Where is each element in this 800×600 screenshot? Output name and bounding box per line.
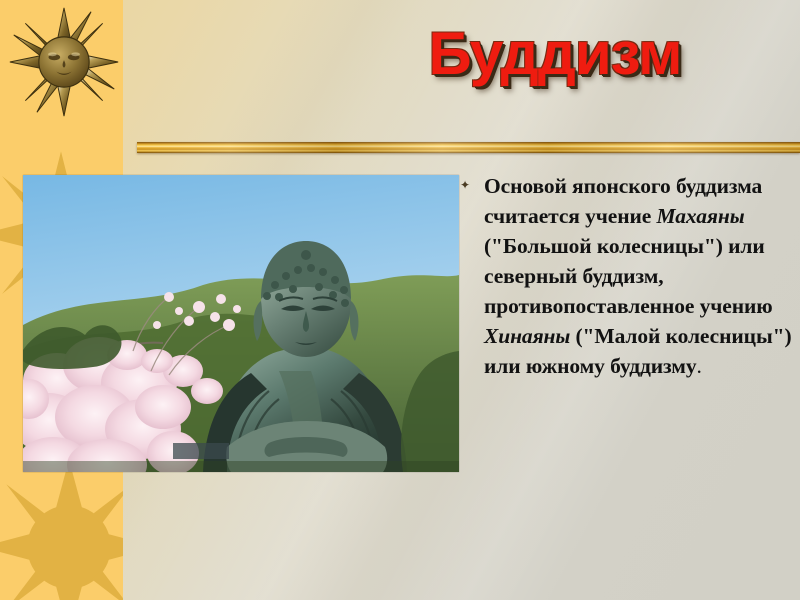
sun-face-icon xyxy=(6,4,122,120)
body-paragraph: Основой японского буддизма считается уче… xyxy=(458,171,794,381)
slide: Буддизм xyxy=(0,0,800,600)
gold-bar-divider xyxy=(137,142,800,153)
page-title: Буддизм xyxy=(340,22,770,86)
sun-silhouette-icon-bottom xyxy=(0,452,123,600)
bullet-icon: ✦ xyxy=(460,181,469,190)
buddha-photo xyxy=(23,175,459,472)
body-text-block: ✦ Основой японского буддизма считается у… xyxy=(458,171,794,381)
